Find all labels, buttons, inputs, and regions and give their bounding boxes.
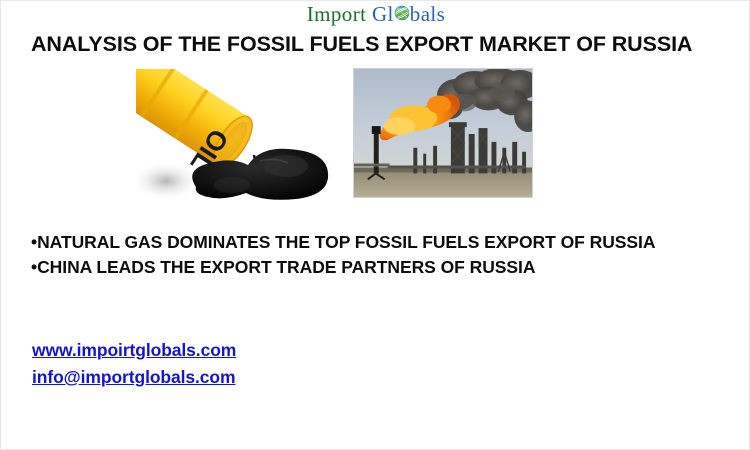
list-item-label: NATURAL GAS DOMINATES THE TOP FOSSIL FUE… xyxy=(37,232,655,252)
contact-block: www.impoirtglobals.com info@importglobal… xyxy=(32,337,236,391)
gas-flare-refinery-photo xyxy=(353,68,533,198)
list-item: •NATURAL GAS DOMINATES THE TOP FOSSIL FU… xyxy=(31,230,731,255)
logo-text-gl: Gl xyxy=(372,2,394,26)
page-title: ANALYSIS OF THE FOSSIL FUELS EXPORT MARK… xyxy=(31,32,731,57)
list-item: •CHINA LEADS THE EXPORT TRADE PARTNERS O… xyxy=(31,255,731,280)
key-findings-list: •NATURAL GAS DOMINATES THE TOP FOSSIL FU… xyxy=(31,230,731,280)
spilled-oil-barrel-illustration: OIL xyxy=(136,69,336,201)
globe-icon xyxy=(394,5,410,21)
slide-canvas: Import Gl bals ANALYSIS OF THE FOSSIL FU… xyxy=(0,0,750,450)
brand-logo[interactable]: Import Gl bals xyxy=(1,4,750,25)
website-link[interactable]: www.impoirtglobals.com xyxy=(32,337,236,364)
logo-text-import: Import xyxy=(307,2,367,26)
email-link[interactable]: info@importglobals.com xyxy=(32,364,236,391)
logo-text-bals: bals xyxy=(410,2,445,26)
list-item-label: CHINA LEADS THE EXPORT TRADE PARTNERS OF… xyxy=(37,257,535,277)
